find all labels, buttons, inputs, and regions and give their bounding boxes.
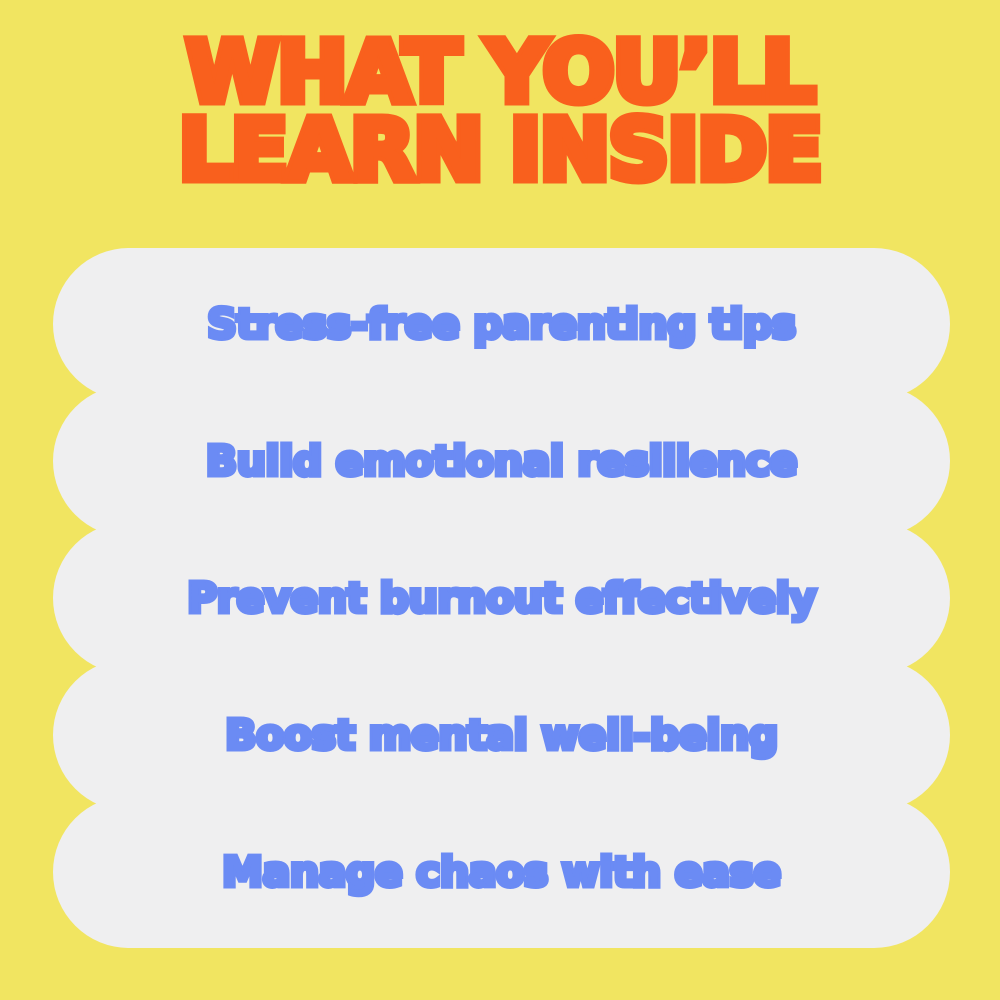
list-item[interactable]: Manage chaos with ease	[53, 796, 950, 948]
benefits-list: Stress-free parenting tips Build emotion…	[53, 248, 950, 948]
list-item-label: Prevent burnout effectively	[187, 578, 816, 619]
list-item[interactable]: Prevent burnout effectively	[53, 522, 950, 674]
list-item-label: Manage chaos with ease	[222, 852, 781, 893]
list-item-label: Boost mental well-being	[225, 715, 778, 756]
page-title: WHAT YOU’LL LEARN INSIDE	[0, 36, 1000, 186]
list-item[interactable]: Build emotional resilience	[53, 385, 950, 537]
list-item-label: Build emotional resilience	[206, 441, 797, 482]
list-item-label: Stress-free parenting tips	[207, 304, 796, 345]
list-item[interactable]: Stress-free parenting tips	[53, 248, 950, 400]
page-title-line-2: LEARN INSIDE	[0, 114, 1000, 186]
page-title-line-1: WHAT YOU’LL	[0, 36, 1000, 108]
poster-canvas: WHAT YOU’LL LEARN INSIDE Stress-free par…	[0, 0, 1000, 1000]
list-item[interactable]: Boost mental well-being	[53, 659, 950, 811]
